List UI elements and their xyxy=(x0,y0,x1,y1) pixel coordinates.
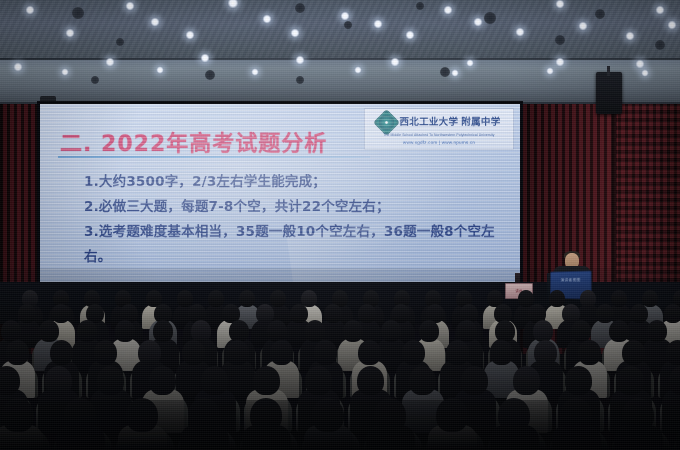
downlight-icon xyxy=(390,57,400,67)
downlight-icon xyxy=(25,5,35,15)
attendee-head xyxy=(45,366,72,395)
attendee-head xyxy=(305,366,332,395)
attendee-head xyxy=(611,290,627,307)
attendee-head xyxy=(18,304,36,323)
photo-canvas: 二. 2022年高考试题分析 1.大约3500字，2/3左右学生能完成； 2.必… xyxy=(0,0,680,450)
downlight-icon xyxy=(200,53,210,63)
downlight-icon xyxy=(667,20,677,30)
attendee-head xyxy=(115,320,135,342)
attendee-head xyxy=(642,290,658,307)
attendee-head xyxy=(617,366,644,395)
downlight-icon xyxy=(451,69,459,77)
attendee-head xyxy=(290,304,308,323)
attendee-head xyxy=(314,340,337,365)
attendee-head xyxy=(270,340,293,365)
downlight-icon xyxy=(354,66,362,74)
soffit-beam xyxy=(0,60,680,106)
attendee-head xyxy=(457,320,477,342)
downlight-icon xyxy=(13,62,23,72)
downlight-icon xyxy=(641,69,649,77)
attendee-head xyxy=(534,340,557,365)
ceiling-fixture-icon xyxy=(555,35,565,45)
attendee-head xyxy=(94,340,117,365)
attendee-head xyxy=(578,340,601,365)
ceiling-fixture-icon xyxy=(595,9,605,19)
attendee-head xyxy=(253,366,280,395)
ceiling-fixture-icon xyxy=(655,40,665,50)
downlight-icon xyxy=(515,27,525,37)
logo-urls: www.xgdfz.com | www.npums.cn xyxy=(403,140,475,145)
ceiling-fixture-icon xyxy=(344,21,352,29)
downlight-icon xyxy=(150,17,160,27)
attendee-head xyxy=(533,320,553,342)
logo-name-en: The Middle School Attached To Northweste… xyxy=(383,133,494,138)
attendee-head xyxy=(664,304,680,323)
downlight-icon xyxy=(125,1,135,11)
slide-title-underline xyxy=(58,156,370,158)
school-logo: 西北工业大学 附属中学 The Middle School Attached T… xyxy=(364,108,514,150)
attendee-head xyxy=(461,366,488,395)
foreground-shadow xyxy=(0,400,680,450)
downlight-icon xyxy=(578,21,588,31)
ceiling-fixture-icon xyxy=(440,67,450,77)
speaker-mount xyxy=(607,66,610,76)
ceiling-fixture-icon xyxy=(116,38,124,46)
attendee-head xyxy=(191,320,211,342)
downlight-icon xyxy=(373,19,383,29)
downlight-icon xyxy=(635,59,645,69)
downlight-icon xyxy=(156,66,164,74)
downlight-icon xyxy=(555,57,565,67)
attendee-head xyxy=(495,320,515,342)
attendee-head xyxy=(97,366,124,395)
downlight-icon xyxy=(405,30,415,40)
downlight-icon xyxy=(185,30,195,40)
downlight-icon xyxy=(295,55,305,65)
downlight-icon xyxy=(251,68,259,76)
downlight-icon xyxy=(625,31,635,41)
ceiling-fixture-icon xyxy=(484,12,496,24)
attendee-head xyxy=(149,366,176,395)
attendee-head xyxy=(358,304,376,323)
downlight-icon xyxy=(290,28,300,38)
downlight-icon xyxy=(443,5,453,15)
attendee-head xyxy=(609,320,629,342)
downlight-icon xyxy=(262,14,272,24)
attendee-head xyxy=(138,340,161,365)
attendee-head xyxy=(513,366,540,395)
attendee-head xyxy=(381,320,401,342)
attendee-head xyxy=(324,304,342,323)
attendee-head xyxy=(419,320,439,342)
attendee-head xyxy=(580,290,596,307)
attendee-head xyxy=(239,290,255,307)
ceiling-fixture-icon xyxy=(295,3,305,13)
ceiling-fixture-icon xyxy=(91,76,99,84)
attendee-head xyxy=(208,290,224,307)
slide-body: 1.大约3500字，2/3左右学生能完成； 2.必做三大题，每题7-8个空，共计… xyxy=(84,170,502,270)
attendee-head xyxy=(229,320,249,342)
attendee-head xyxy=(630,304,648,323)
attendee-head xyxy=(256,304,274,323)
attendee-head xyxy=(490,340,513,365)
attendee-head xyxy=(182,340,205,365)
slide-line-3: 3.选考题难度基本相当，35题一般10个空左右，36题一般8个空左右。 xyxy=(84,220,502,270)
attendee-head xyxy=(153,320,173,342)
attendee-head xyxy=(357,366,384,395)
slide-line-2: 2.必做三大题，每题7-8个空，共计22个空左右； xyxy=(84,195,502,220)
attendee-head xyxy=(549,290,565,307)
attendee-head xyxy=(270,290,286,307)
ceiling-fixture-icon xyxy=(72,7,84,19)
attendee-head xyxy=(343,320,363,342)
downlight-icon xyxy=(61,68,69,76)
logo-name-cn-suffix: 附属中学 xyxy=(461,118,500,128)
logo-name-cn: 西北工业大学 xyxy=(399,118,458,128)
speaker-cabinet-icon xyxy=(596,72,622,114)
attendee-head xyxy=(267,320,287,342)
ceiling-fixture-icon xyxy=(296,76,304,84)
attendee-head xyxy=(177,290,193,307)
downlight-icon xyxy=(65,28,75,38)
attendee-head xyxy=(226,340,249,365)
attendee-head xyxy=(6,340,29,365)
downlight-icon xyxy=(546,67,554,75)
attendee-head xyxy=(409,366,436,395)
attendee-head xyxy=(358,340,381,365)
projection-screen: 二. 2022年高考试题分析 1.大约3500字，2/3左右学生能完成； 2.必… xyxy=(40,104,520,294)
attendee-head xyxy=(647,320,667,342)
attendee-head xyxy=(446,340,469,365)
ceiling-fixture-icon xyxy=(416,2,424,10)
attendee-head xyxy=(622,340,645,365)
attendee-head xyxy=(52,304,70,323)
downlight-icon xyxy=(466,59,474,67)
ceiling-fixture-icon xyxy=(205,70,215,80)
attendee-head xyxy=(50,340,73,365)
attendee-head xyxy=(305,320,325,342)
attendee-head xyxy=(565,366,592,395)
attendee-head xyxy=(571,320,591,342)
downlight-icon xyxy=(340,11,350,21)
attendee-head xyxy=(666,340,680,365)
attendee-head xyxy=(77,320,97,342)
attendee-head xyxy=(402,340,425,365)
attendee-head xyxy=(39,320,59,342)
attendee-head xyxy=(1,320,21,342)
logo-row: 西北工业大学 附属中学 xyxy=(377,113,500,132)
downlight-icon xyxy=(105,57,115,67)
slide-line-1: 1.大约3500字，2/3左右学生能完成； xyxy=(84,170,502,195)
downlight-icon xyxy=(655,5,665,15)
attendee-head xyxy=(596,304,614,323)
slide-title: 二. 2022年高考试题分析 xyxy=(60,126,327,158)
attendee-head xyxy=(201,366,228,395)
downlight-icon xyxy=(473,17,483,27)
